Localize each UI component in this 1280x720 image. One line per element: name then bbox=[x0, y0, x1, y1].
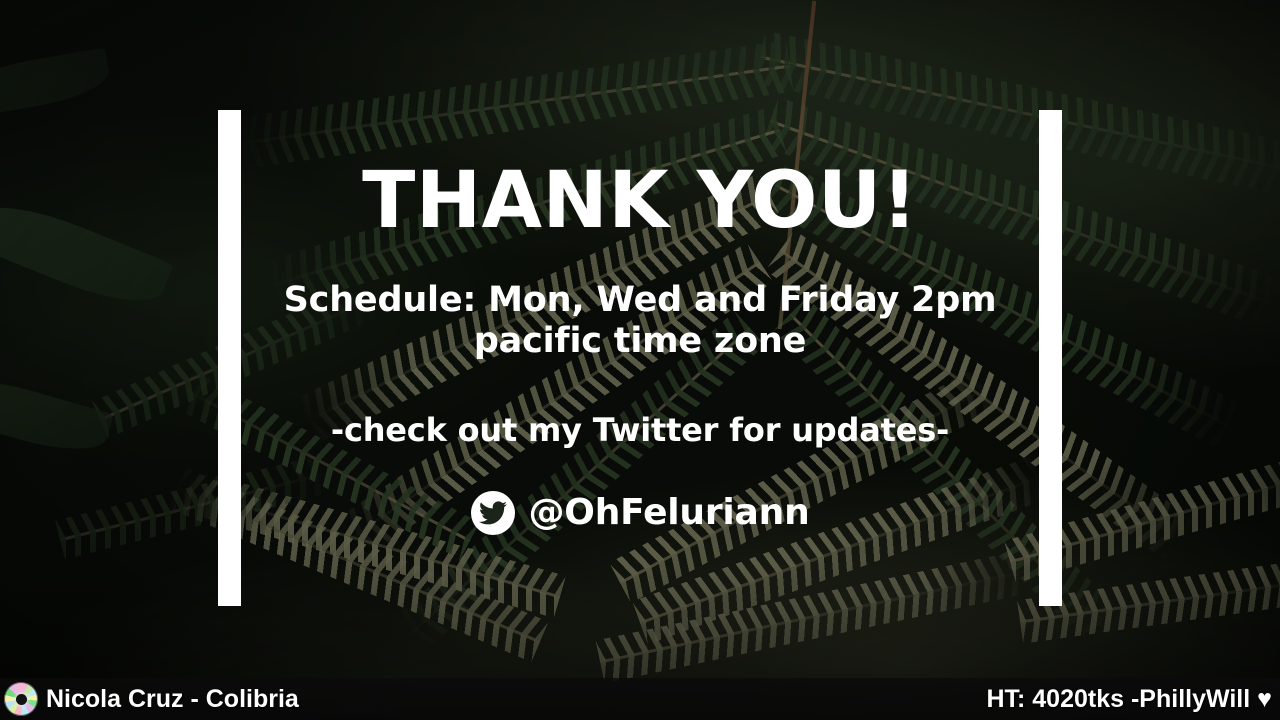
left-vertical-rule bbox=[218, 110, 241, 606]
cd-disc-icon bbox=[4, 682, 38, 716]
twitter-handle[interactable]: @OhFeluriann bbox=[529, 492, 810, 533]
twitter-handle-row[interactable]: @OhFeluriann bbox=[471, 491, 810, 535]
twitter-bird-icon[interactable] bbox=[471, 491, 515, 535]
highest-tipper-label: HT: 4020tks -PhillyWill ♥ bbox=[986, 685, 1280, 714]
now-playing-label: Nicola Cruz - Colibria bbox=[46, 685, 299, 714]
schedule-line-1: Schedule: Mon, Wed and Friday 2pm bbox=[284, 280, 997, 321]
stream-outro-screen: THANK YOU! Schedule: Mon, Wed and Friday… bbox=[0, 0, 1280, 720]
outro-content: THANK YOU! Schedule: Mon, Wed and Friday… bbox=[250, 100, 1030, 616]
schedule-text: Schedule: Mon, Wed and Friday 2pm pacifi… bbox=[284, 280, 997, 363]
page-title: THANK YOU! bbox=[362, 162, 918, 240]
schedule-line-2: pacific time zone bbox=[284, 321, 997, 362]
now-playing-group: Nicola Cruz - Colibria bbox=[0, 682, 299, 716]
right-vertical-rule bbox=[1039, 110, 1062, 606]
bottom-status-bar: Nicola Cruz - Colibria HT: 4020tks -Phil… bbox=[0, 678, 1280, 720]
promo-text: -check out my Twitter for updates- bbox=[331, 411, 949, 449]
